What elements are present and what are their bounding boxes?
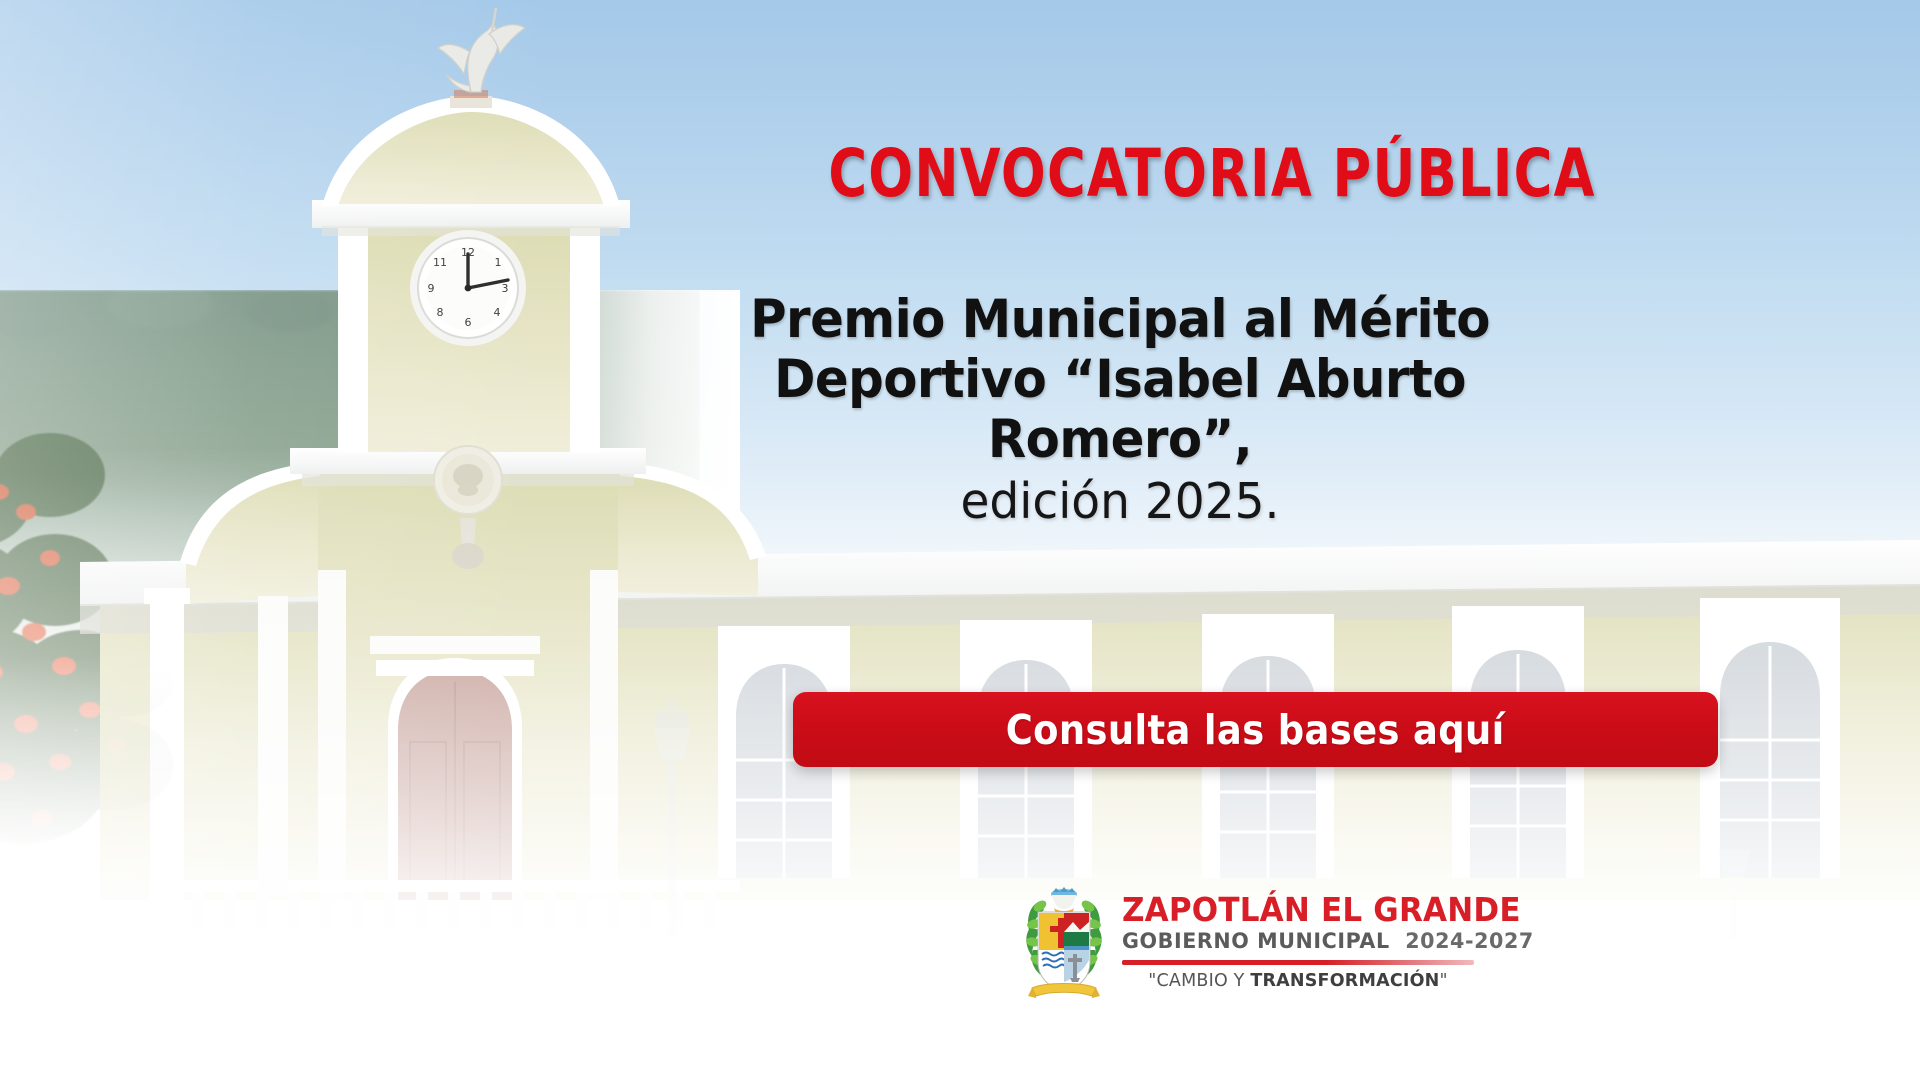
subtitle-line-1: Premio Municipal al Mérito bbox=[641, 290, 1600, 350]
svg-text:6: 6 bbox=[465, 316, 472, 329]
government-logo: ZAPOTLÁN EL GRANDE GOBIERNO MUNICIPAL 20… bbox=[1020, 884, 1551, 1002]
consulta-bases-label: Consulta las bases aquí bbox=[1006, 706, 1505, 754]
zapotlan-coat-of-arms-icon bbox=[1020, 884, 1108, 1002]
subtitle-block: Premio Municipal al Mérito Deportivo “Is… bbox=[610, 290, 1630, 533]
svg-text:9: 9 bbox=[428, 282, 435, 295]
logo-municipality: ZAPOTLÁN EL GRANDE bbox=[1122, 893, 1525, 928]
slogan-suffix: " bbox=[1440, 971, 1448, 991]
logo-government: GOBIERNO MUNICIPAL 2024-2027 bbox=[1122, 929, 1534, 956]
svg-text:1: 1 bbox=[495, 256, 502, 269]
svg-text:3: 3 bbox=[502, 282, 509, 295]
page-title: CONVOCATORIA PÚBLICA bbox=[812, 142, 1612, 205]
svg-text:12: 12 bbox=[461, 246, 475, 259]
subtitle-line-2: Deportivo “Isabel Aburto Romero”, bbox=[641, 350, 1600, 470]
logo-slogan: "CAMBIO Y TRANSFORMACIÓN" bbox=[1122, 971, 1474, 993]
logo-text-block: ZAPOTLÁN EL GRANDE GOBIERNO MUNICIPAL 20… bbox=[1122, 893, 1551, 993]
logo-term: 2024-2027 bbox=[1405, 929, 1534, 954]
svg-text:8: 8 bbox=[437, 306, 444, 319]
consulta-bases-button[interactable]: Consulta las bases aquí bbox=[793, 692, 1718, 767]
subtitle-line-3: edición 2025. bbox=[630, 470, 1609, 534]
poster-canvas: 121 34 68 911 bbox=[0, 0, 1920, 1080]
eagle-statue bbox=[438, 24, 525, 92]
slogan-prefix: "CAMBIO Y bbox=[1148, 971, 1250, 991]
logo-government-label: GOBIERNO MUNICIPAL bbox=[1122, 929, 1390, 954]
svg-text:11: 11 bbox=[433, 256, 447, 269]
logo-divider bbox=[1122, 960, 1474, 965]
slogan-emphasis: TRANSFORMACIÓN bbox=[1250, 971, 1439, 991]
svg-text:4: 4 bbox=[494, 306, 501, 319]
